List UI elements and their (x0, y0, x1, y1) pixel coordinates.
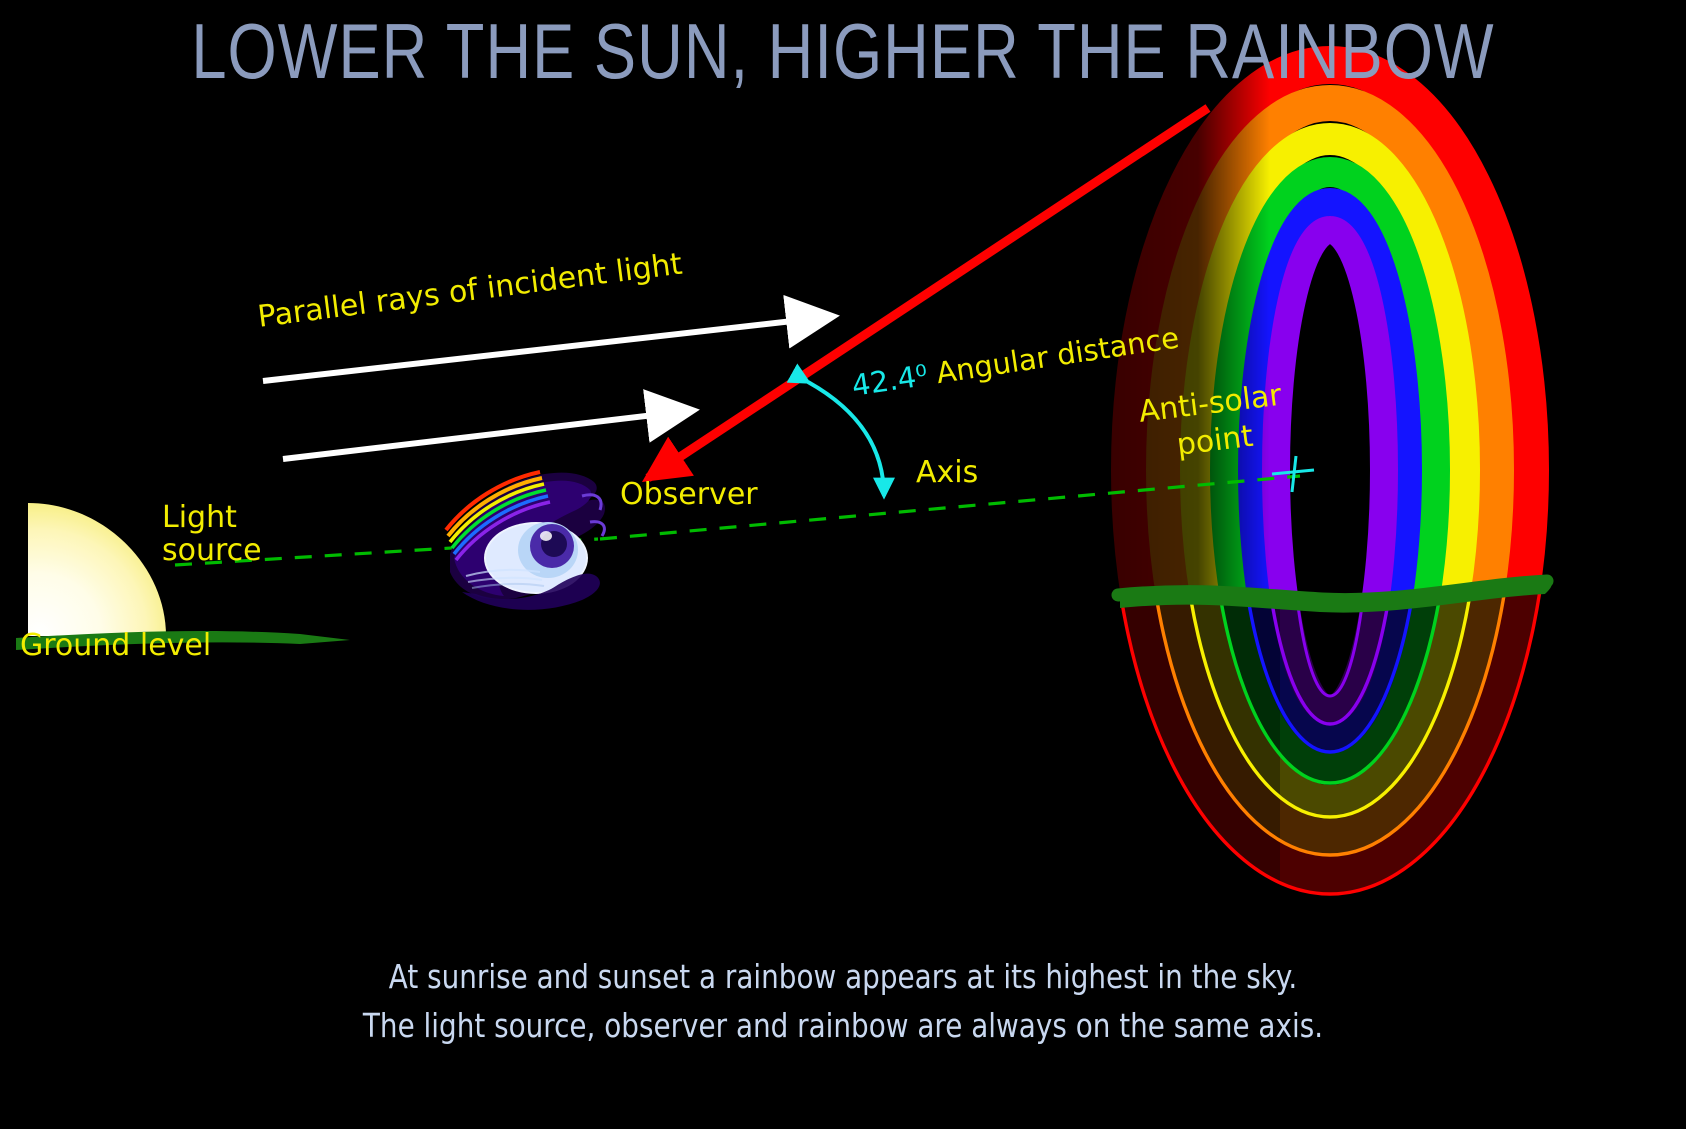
incident-ray-2 (283, 411, 688, 459)
label-light-source-line-1: Light (162, 500, 237, 536)
label-ground-level: Ground level (20, 628, 211, 664)
label-observer: Observer (620, 477, 758, 513)
caption-line-1: At sunrise and sunset a rainbow appears … (34, 952, 1653, 1001)
rainbow-ring (1090, 40, 1549, 920)
light-source-sun (28, 503, 166, 636)
page-title: LOWER THE SUN, HIGHER THE RAINBOW (0, 8, 1686, 97)
parallel-incident-rays (263, 317, 828, 459)
observer-eye (446, 472, 605, 610)
page-caption: At sunrise and sunset a rainbow appears … (34, 952, 1653, 1051)
incident-ray-1 (263, 317, 828, 381)
label-axis: Axis (916, 455, 978, 491)
caption-line-2: The light source, observer and rainbow a… (34, 1001, 1653, 1050)
diagram-canvas: LOWER THE SUN, HIGHER THE RAINBOW At sun… (0, 0, 1686, 1129)
ground-level-line (16, 581, 1552, 650)
label-light-source-line-2: source (162, 533, 262, 569)
